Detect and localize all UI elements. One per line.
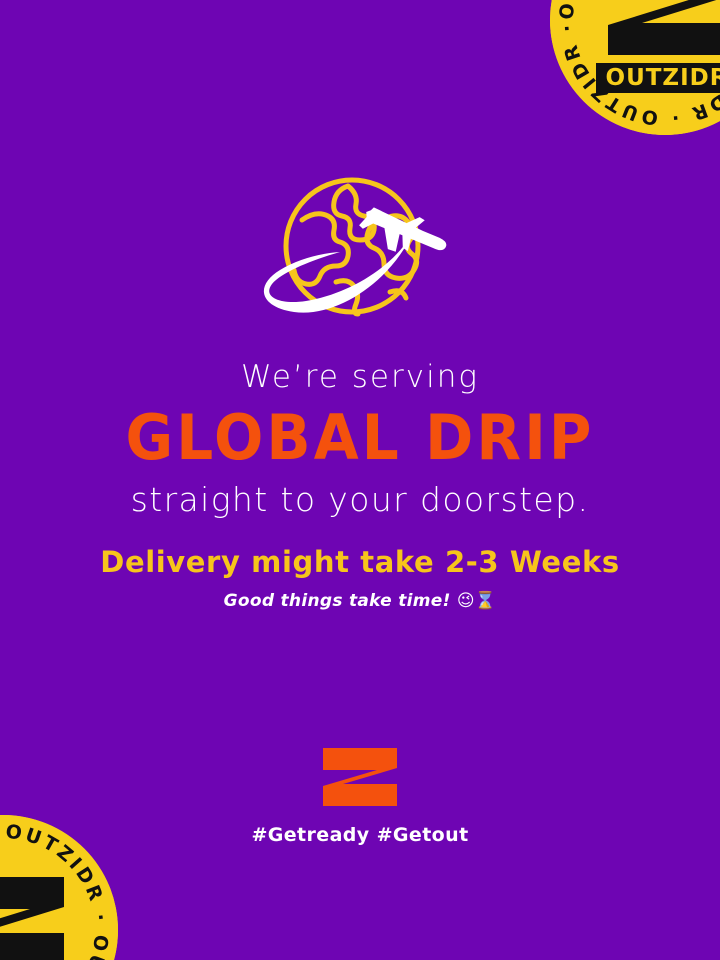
globe-plane-illustration (0, 172, 720, 332)
brand-badge-top-right-svg: OUTZIDR · OUTZIDR · OUTZIDR · OUTZIDR · … (550, 0, 720, 135)
z-logo-svg (321, 746, 399, 808)
delivery-time-text: Delivery might take 2-3 Weeks (0, 548, 720, 577)
brand-badge-bottom-left-svg: OUTZIDR · OUTZIDR · OUTZIDR · OUTZIDR · … (0, 815, 118, 960)
brand-badge-top-right-wordmark: OUTZIDR (606, 65, 720, 91)
z-logo-icon (321, 746, 399, 808)
headline-block: We’re serving GLOBAL DRIP straight to yo… (0, 362, 720, 516)
wink-hourglass-emoji: 😉⌛ (457, 591, 497, 611)
headline-line-global-drip: GLOBAL DRIP (0, 403, 720, 472)
delivery-subtext-label: Good things take time! (224, 591, 451, 611)
brand-badge-bottom-left: OUTZIDR · OUTZIDR · OUTZIDR · OUTZIDR · … (0, 815, 118, 960)
brand-badge-top-right: OUTZIDR · OUTZIDR · OUTZIDR · OUTZIDR · … (550, 0, 720, 135)
headline-line-doorstep: straight to your doorstep. (0, 483, 720, 516)
delivery-subtext: Good things take time! 😉⌛ (0, 593, 720, 610)
headline-line-serving: We’re serving (0, 362, 720, 393)
delivery-notice-block: Delivery might take 2-3 Weeks Good thing… (0, 548, 720, 610)
globe-plane-svg (240, 172, 480, 332)
poster-canvas: We’re serving GLOBAL DRIP straight to yo… (0, 0, 720, 960)
